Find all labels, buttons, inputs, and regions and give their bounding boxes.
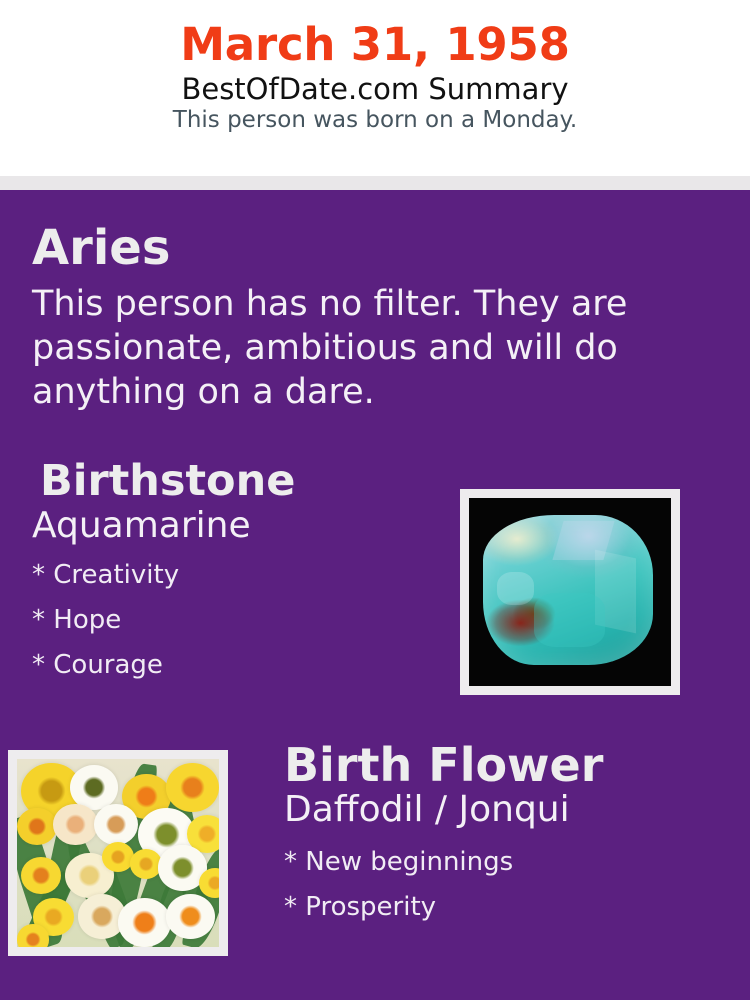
daffodil-bloom-icon [118, 898, 171, 947]
zodiac-description: This person has no filter. They are pass… [32, 282, 642, 414]
daffodil-bloom-icon [166, 763, 219, 812]
birthflower-section: Birth Flower Daffodil / Jonqui * New beg… [250, 742, 720, 929]
zodiac-section: Aries This person has no filter. They ar… [0, 190, 750, 414]
birthflower-photo-frame [8, 750, 228, 956]
daffodil-bloom-icon [53, 804, 97, 845]
daffodil-bloom-icon [102, 842, 134, 872]
list-item: * Prosperity [284, 885, 720, 930]
zodiac-sign-name: Aries [32, 224, 750, 272]
birthflower-trait-list: * New beginnings * Prosperity [250, 840, 720, 929]
birthstone-photo-frame [460, 489, 680, 695]
summary-panel: Aries This person has no filter. They ar… [0, 190, 750, 1000]
page-title-date: March 31, 1958 [0, 22, 750, 68]
birthstone-image [469, 498, 671, 686]
crystal-facet-icon [497, 572, 534, 605]
page-header: March 31, 1958 BestOfDate.com Summary Th… [0, 0, 750, 176]
daffodil-bloom-icon [17, 808, 57, 846]
birthflower-name: Daffodil / Jonqui [250, 791, 720, 830]
daffodil-bloom-icon [70, 765, 118, 810]
birthflower-heading: Birth Flower [250, 742, 720, 788]
birthflower-image [17, 759, 219, 947]
header-divider [0, 176, 750, 190]
crystal-facet-icon [534, 593, 605, 647]
site-name-subtitle: BestOfDate.com Summary [0, 74, 750, 104]
birth-day-of-week-note: This person was born on a Monday. [0, 108, 750, 132]
daffodil-bloom-icon [17, 924, 49, 947]
list-item: * New beginnings [284, 840, 720, 885]
aquamarine-crystal-icon [483, 515, 653, 665]
